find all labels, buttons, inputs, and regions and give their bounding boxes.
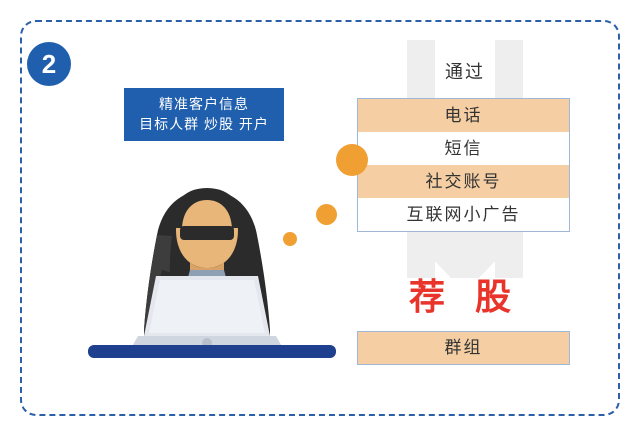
callout-label: 精准客户信息 目标人群 炒股 开户 (124, 88, 284, 141)
callout-line-1: 精准客户信息 (124, 94, 284, 114)
group-box: 群组 (357, 331, 570, 365)
desk-bar (88, 345, 336, 358)
orange-dot-large-icon (336, 144, 368, 176)
channel-list: 电话 短信 社交账号 互联网小广告 (357, 98, 570, 232)
channel-row: 社交账号 (358, 165, 569, 198)
orange-dot-medium-icon (316, 204, 337, 225)
step-number-badge: 2 (27, 42, 71, 86)
channel-row: 电话 (358, 99, 569, 132)
diagram-canvas: 2 精准客户信息 目标人群 炒股 开户 通过 电话 短信 社交账号 互联网小广告… (0, 0, 640, 434)
channel-row: 短信 (358, 132, 569, 165)
channel-row: 互联网小广告 (358, 198, 569, 231)
channels-heading: 通过 (407, 58, 523, 84)
callout-line-2: 目标人群 炒股 开户 (124, 114, 284, 134)
action-text: 荐 股 (380, 268, 550, 320)
hooded-hacker-illustration (110, 150, 305, 365)
